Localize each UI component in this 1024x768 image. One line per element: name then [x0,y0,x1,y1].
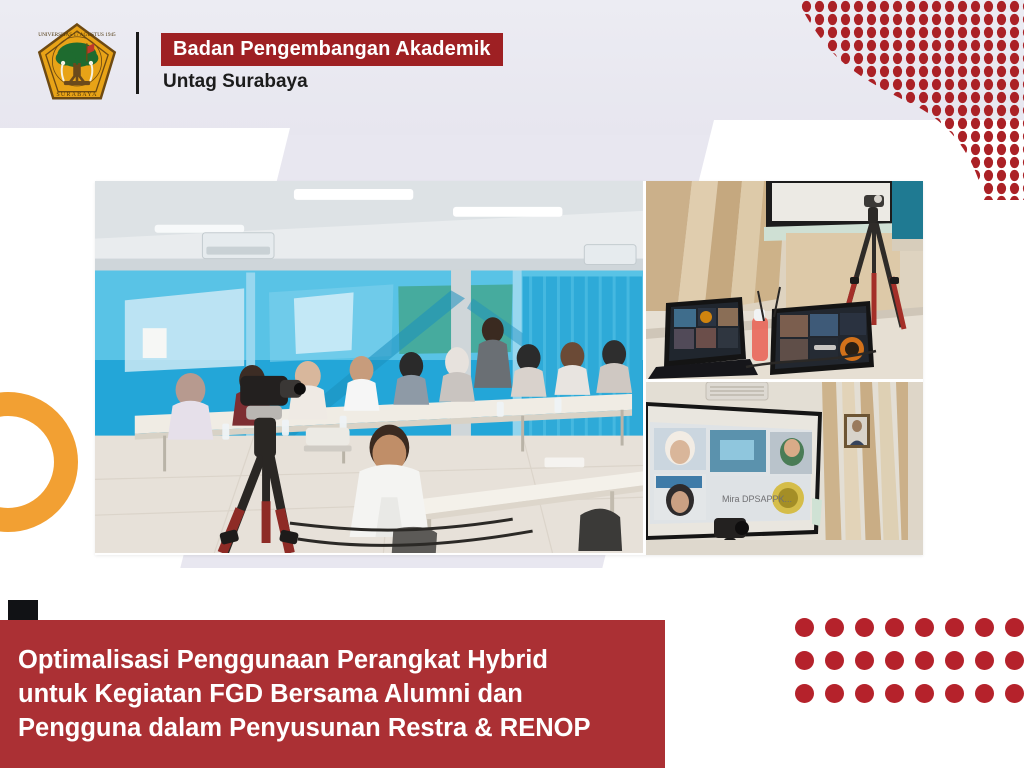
photo-projector-screen: Mira DPSAPPK... [646,379,923,555]
photo-collage: Mira DPSAPPK... [95,181,923,555]
grid-dot [885,684,904,703]
grid-dot [975,651,994,670]
red-dot-grid-decoration [795,618,1024,717]
grid-dot [1005,651,1024,670]
svg-text:UNIVERSITAS 17 AGUSTUS 1945: UNIVERSITAS 17 AGUSTUS 1945 [38,32,116,38]
grid-dot [915,684,934,703]
grid-dot [945,651,964,670]
grid-dot [825,618,844,637]
grid-dot [1005,684,1024,703]
grid-dot [975,618,994,637]
grid-dot [825,651,844,670]
grid-dot [855,651,874,670]
svg-text:Mira DPSAPPK...: Mira DPSAPPK... [722,494,792,504]
department-badge: Badan Pengembangan Akademik [161,33,503,66]
untag-surabaya-crest-icon: UNIVERSITAS 17 AGUSTUS 1945 SURABAYA [36,22,118,104]
slide-canvas: UNIVERSITAS 17 AGUSTUS 1945 SURABAYA Bad… [0,0,1024,768]
grid-dot [885,618,904,637]
grid-dot [915,618,934,637]
grid-dot [825,684,844,703]
header-divider [136,32,139,94]
grid-dot [945,684,964,703]
grid-dot [795,651,814,670]
grid-dot [855,684,874,703]
title-line-1: Optimalisasi Penggunaan Perangkat Hybrid [18,644,641,678]
page-title: Optimalisasi Penggunaan Perangkat Hybrid… [18,644,641,746]
grid-dot [795,684,814,703]
svg-text:SURABAYA: SURABAYA [56,92,97,98]
photo-main-room [95,181,646,555]
grid-dot [915,651,934,670]
grid-dot [945,618,964,637]
title-line-2: untuk Kegiatan FGD Bersama Alumni dan [18,678,641,712]
institution-name: Untag Surabaya [161,72,503,93]
photo-laptops-hybrid [646,181,923,379]
grid-dot [975,684,994,703]
slide-header: UNIVERSITAS 17 AGUSTUS 1945 SURABAYA Bad… [0,0,1024,128]
grid-dot [855,618,874,637]
grid-dot [795,618,814,637]
grid-dot [1005,618,1024,637]
title-line-3: Pengguna dalam Penyusunan Restra & RENOP [18,712,641,746]
title-banner: Optimalisasi Penggunaan Perangkat Hybrid… [0,620,665,768]
grid-dot [885,651,904,670]
